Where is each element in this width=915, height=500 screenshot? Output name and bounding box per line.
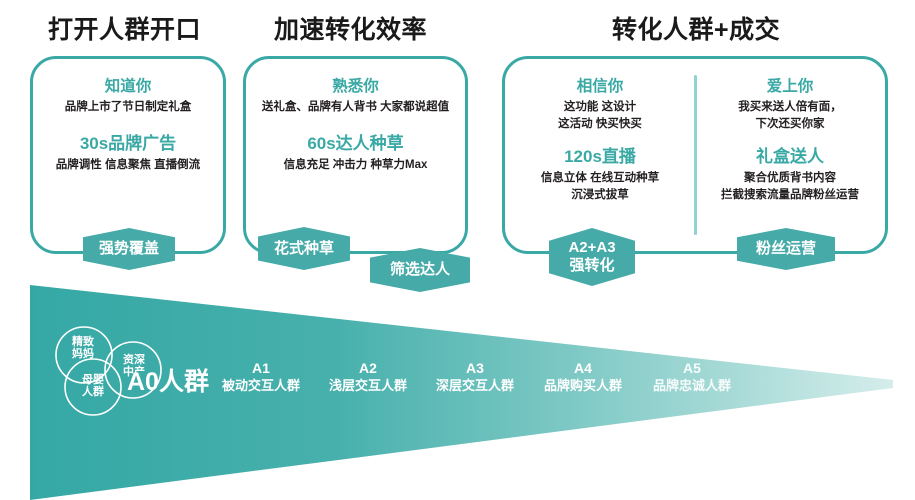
funnel-stage-a3: A3 深层交互人群	[420, 360, 530, 394]
stage-card-awareness: 知道你 品牌上市了节日制定礼盒 30s品牌广告 品牌调性 信息聚焦 直播倒流	[30, 56, 226, 254]
panel-mid-subtitle-line: 品牌调性 信息聚焦 直播倒流	[33, 157, 223, 174]
stage-code: A3	[420, 360, 530, 378]
panel-subtitle-line: 这活动 快买快买	[505, 116, 695, 133]
panel-mid-subtitle-line: 信息立体 在线互动种草	[505, 170, 695, 187]
tag-label: 强势覆盖	[93, 240, 165, 258]
section-heading-accelerate-conversion: 加速转化效率	[274, 10, 427, 46]
venn-label-line: 母婴	[82, 374, 104, 386]
stage-card-familiarity: 熟悉你 送礼盒、品牌有人背书 大家都说超值 60s达人种草 信息充足 冲击力 种…	[243, 56, 468, 254]
funnel-stage-a1: A1 被动交互人群	[206, 360, 316, 394]
panel-mid-title: 30s品牌广告	[33, 134, 223, 154]
panel-title: 熟悉你	[246, 77, 465, 96]
spacer	[33, 116, 223, 134]
panel-subtitle-line: 我买来送人倍有面，	[695, 99, 885, 116]
venn-label-refined-moms: 精致妈妈	[56, 336, 110, 360]
section-heading-open-audience: 打开人群开口	[48, 10, 201, 46]
funnel-stage-a5: A5 品牌忠诚人群	[637, 360, 747, 394]
card-panel-trust-you: 相信你 这功能 这设计 这活动 快买快买 120s直播 信息立体 在线互动种草 …	[505, 59, 695, 251]
tag-label: 粉丝运营	[750, 240, 822, 258]
panel-subtitle-line: 下次还买你家	[695, 116, 885, 133]
panel-mid-subtitle-line: 沉浸式拔草	[505, 187, 695, 204]
stage-code: A4	[528, 360, 638, 378]
panel-subtitle-line: 送礼盒、品牌有人背书 大家都说超值	[246, 99, 465, 116]
panel-mid-subtitle-line: 拦截搜索流量品牌粉丝运营	[695, 187, 885, 204]
venn-label-line: 精致	[72, 336, 94, 348]
spacer	[505, 133, 695, 147]
stage-name: 浅层交互人群	[313, 378, 423, 394]
panel-subtitle-line: 这功能 这设计	[505, 99, 695, 116]
spacer	[695, 133, 885, 147]
stage-card-conversion: 相信你 这功能 这设计 这活动 快买快买 120s直播 信息立体 在线互动种草 …	[502, 56, 888, 254]
panel-mid-subtitle-line: 信息充足 冲击力 种草力Max	[246, 157, 465, 174]
funnel-label-a0: A0人群	[127, 362, 209, 398]
panel-mid-title: 120s直播	[505, 147, 695, 167]
panel-mid-title: 60s达人种草	[246, 134, 465, 154]
stage-name: 品牌忠诚人群	[637, 378, 747, 394]
venn-label-line: 妈妈	[72, 348, 94, 360]
panel-subtitle-line: 品牌上市了节日制定礼盒	[33, 99, 223, 116]
panel-title: 相信你	[505, 77, 695, 96]
panel-mid-subtitle-line: 聚合优质背书内容	[695, 170, 885, 187]
stage-name: 品牌购买人群	[528, 378, 638, 394]
panel-title: 爱上你	[695, 77, 885, 96]
panel-mid-title: 礼盒送人	[695, 147, 885, 167]
card-panel-love-you: 爱上你 我买来送人倍有面， 下次还买你家 礼盒送人 聚合优质背书内容 拦截搜索流…	[695, 59, 885, 251]
stage-code: A5	[637, 360, 747, 378]
funnel-stage-a2: A2 浅层交互人群	[313, 360, 423, 394]
card-panel-know-you: 知道你 品牌上市了节日制定礼盒 30s品牌广告 品牌调性 信息聚焦 直播倒流	[33, 59, 223, 251]
stage-code: A1	[206, 360, 316, 378]
tag-label: 花式种草	[268, 240, 340, 258]
section-heading-convert-and-transact: 转化人群+成交	[612, 10, 780, 46]
funnel-stage-a4: A4 品牌购买人群	[528, 360, 638, 394]
stage-code: A2	[313, 360, 423, 378]
panel-title: 知道你	[33, 77, 223, 96]
stage-name: 深层交互人群	[420, 378, 530, 394]
tag-label: A2+A3	[562, 239, 621, 257]
card-panel-familiar-with-you: 熟悉你 送礼盒、品牌有人背书 大家都说超值 60s达人种草 信息充足 冲击力 种…	[246, 59, 465, 251]
venn-label-maternal-infant: 母婴人群	[66, 374, 120, 398]
spacer	[246, 116, 465, 134]
venn-label-line: 人群	[82, 386, 104, 398]
stage-name: 被动交互人群	[206, 378, 316, 394]
